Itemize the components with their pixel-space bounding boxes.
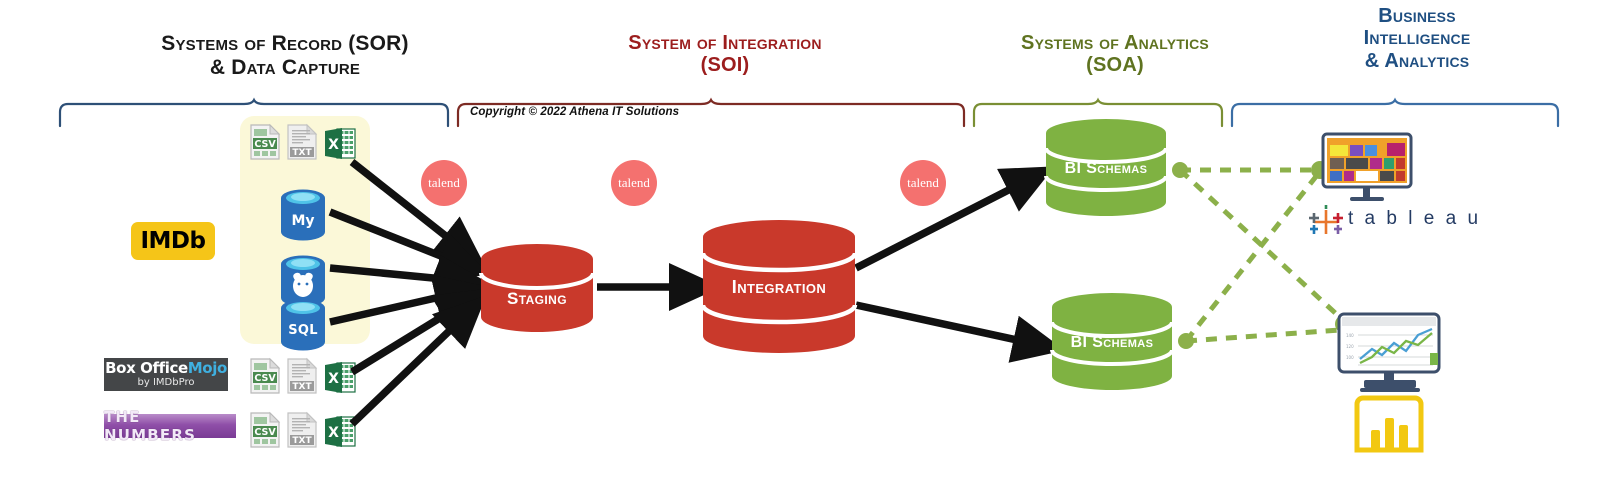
tableau-dashboard-monitor <box>1322 133 1412 203</box>
staging-label: Staging <box>478 289 596 309</box>
bi-schema-datastore-bottom: BI Schemas <box>1050 292 1174 392</box>
svg-text:140: 140 <box>1346 333 1354 338</box>
talend-badge-transform: talend <box>611 160 657 206</box>
bi-schema-datastore-top: BI Schemas <box>1044 118 1168 218</box>
talend-badge-load: talend <box>900 160 946 206</box>
tableau-wordmark: t a b l e a u <box>1348 208 1481 230</box>
integration-label: Integration <box>700 277 858 298</box>
svg-text:120: 120 <box>1346 344 1354 349</box>
integration-datastore: Integration <box>700 219 858 355</box>
talend-label: talend <box>428 175 460 191</box>
power-bi-dashboard-monitor: 140120100 <box>1338 313 1442 395</box>
power-bi-logo-icon <box>1355 396 1423 452</box>
svg-text:100: 100 <box>1346 355 1354 360</box>
tableau-logo-icon <box>1305 205 1347 239</box>
bi-schema-label: BI Schemas <box>1044 160 1168 178</box>
talend-label: talend <box>907 175 939 191</box>
talend-label: talend <box>618 175 650 191</box>
bi-schema-label: BI Schemas <box>1050 334 1174 352</box>
architecture-diagram: Systems of Record (SOR) & Data Capture S… <box>0 0 1618 481</box>
staging-datastore: Staging <box>478 243 596 333</box>
talend-badge-extract: talend <box>421 160 467 206</box>
